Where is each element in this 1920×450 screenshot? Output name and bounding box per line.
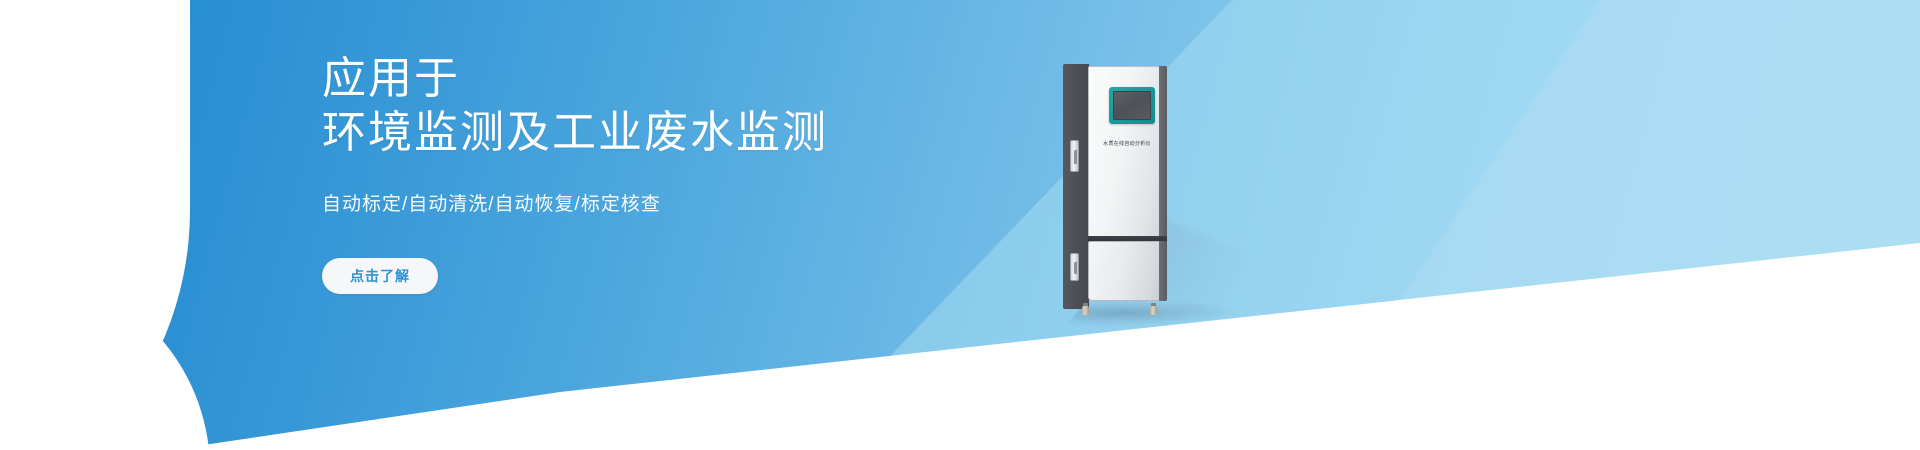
device-display-screen bbox=[1113, 91, 1151, 120]
hero-headline-line-1: 应用于 bbox=[322, 54, 460, 103]
device-caster-left-icon bbox=[1081, 303, 1090, 315]
learn-more-button[interactable]: 点击了解 bbox=[322, 258, 438, 294]
device-upper-right-edge bbox=[1159, 66, 1167, 239]
device-lower-cabinet bbox=[1088, 241, 1166, 301]
hero-copy: 应用于 环境监测及工业废水监测 自动标定/自动清洗/自动恢复/标定核查 点击了解 bbox=[322, 52, 1062, 294]
device-screen-bezel bbox=[1109, 87, 1155, 124]
water-quality-analyzer-image: 水质在线自动分析仪 bbox=[1063, 64, 1173, 314]
device-caster-right-icon bbox=[1149, 303, 1158, 315]
hero-banner: 应用于 环境监测及工业废水监测 自动标定/自动清洗/自动恢复/标定核查 点击了解… bbox=[0, 0, 1920, 450]
device-lower-right-edge bbox=[1159, 241, 1167, 301]
device-lower-handle-icon bbox=[1070, 253, 1079, 281]
device-side-panel bbox=[1063, 64, 1089, 309]
device-product-label: 水质在线自动分析仪 bbox=[1088, 141, 1166, 148]
hero-headline: 应用于 环境监测及工业废水监测 bbox=[322, 52, 1062, 160]
hero-subheadline: 自动标定/自动清洗/自动恢复/标定核查 bbox=[322, 192, 1062, 218]
hero-headline-line-2: 环境监测及工业废水监测 bbox=[322, 106, 1062, 160]
device-upper-handle-icon bbox=[1070, 140, 1079, 172]
